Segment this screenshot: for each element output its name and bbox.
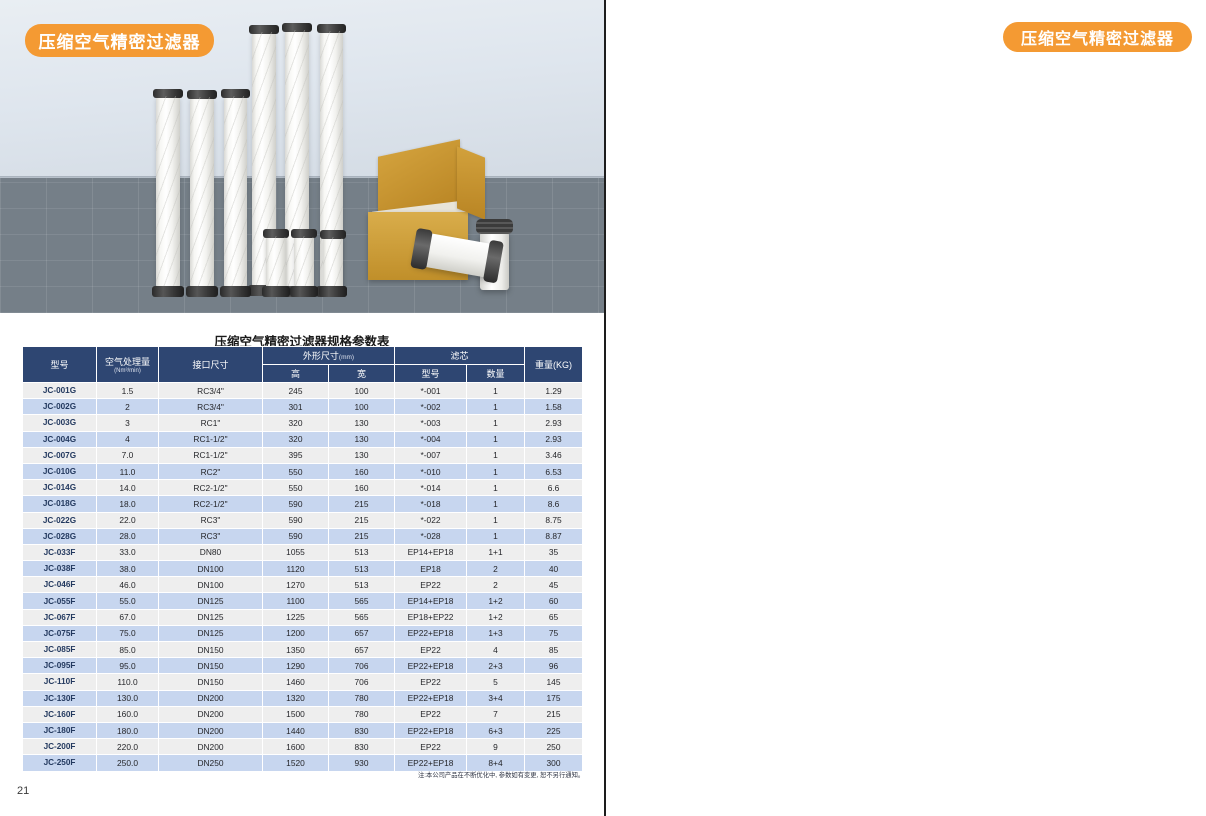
spec-cell-model: JC-010G [23,463,97,479]
spec-cell-port: DN125 [159,609,263,625]
spec-cell-height: 1350 [263,642,329,658]
spec-table-row: JC-160F160.0DN2001500780EP227215 [23,706,583,722]
spec-cell-element-qty: 3+4 [467,690,525,706]
spec-cell-element-model: EP22 [395,706,467,722]
spec-th-port: 接口尺寸 [159,347,263,383]
spec-cell-element-model: EP22 [395,674,467,690]
spec-cell-weight: 6.6 [525,480,583,496]
spec-cell-element-qty: 2 [467,561,525,577]
spec-cell-element-qty: 1+2 [467,609,525,625]
catalog-spread: 压缩空气精密过滤器 压缩空气精密过滤器规格参数表 型号 空气处理量 (Nm³/m… [0,0,1206,816]
spec-th-element-qty: 数量 [467,365,525,383]
spec-cell-port: DN125 [159,593,263,609]
spec-cell-airflow: 3 [97,415,159,431]
spec-cell-airflow: 46.0 [97,577,159,593]
spec-cell-port: RC2-1/2" [159,496,263,512]
spec-cell-height: 1100 [263,593,329,609]
spec-table-row: JC-003G3RC1"320130*-00312.93 [23,415,583,431]
spec-cell-port: DN150 [159,674,263,690]
spec-cell-element-model: *-007 [395,447,467,463]
spec-cell-airflow: 75.0 [97,625,159,641]
spec-cell-port: DN100 [159,577,263,593]
spec-cell-airflow: 130.0 [97,690,159,706]
spec-cell-height: 1055 [263,544,329,560]
spec-cell-weight: 2.93 [525,415,583,431]
spec-cell-width: 215 [329,512,395,528]
spec-cell-port: RC3/4" [159,399,263,415]
spec-cell-element-qty: 2+3 [467,658,525,674]
spec-cell-element-model: EP14+EP18 [395,593,467,609]
title-badge-right: 压缩空气精密过滤器 [1003,22,1192,52]
spec-cell-element-model: EP14+EP18 [395,544,467,560]
page-right: 压缩空气精密过滤器 过滤等级过滤器名称过滤器类型固体颗粒去除(包括水和油雾)最大… [604,0,1206,816]
spec-table-row: JC-038F38.0DN1001120513EP18240 [23,561,583,577]
spec-cell-height: 1270 [263,577,329,593]
spec-cell-port: RC1-1/2" [159,447,263,463]
spec-cell-port: DN200 [159,722,263,738]
spec-cell-width: 513 [329,577,395,593]
spec-cell-model: JC-055F [23,593,97,609]
spec-cell-weight: 8.75 [525,512,583,528]
spec-cell-height: 1120 [263,561,329,577]
spec-table-row: JC-007G7.0RC1-1/2"395130*-00713.46 [23,447,583,463]
spec-table-row: JC-180F180.0DN2001440830EP22+EP186+3225 [23,722,583,738]
spec-cell-element-model: EP18 [395,561,467,577]
spec-cell-element-model: EP22+EP18 [395,755,467,771]
spec-cell-airflow: 85.0 [97,642,159,658]
spec-cell-element-model: EP22+EP18 [395,658,467,674]
spec-th-height: 高 [263,365,329,383]
spec-cell-element-model: *-022 [395,512,467,528]
spec-cell-height: 590 [263,496,329,512]
spec-table-body: JC-001G1.5RC3/4"245100*-00111.29JC-002G2… [23,383,583,772]
spec-table-row: JC-095F95.0DN1501290706EP22+EP182+396 [23,658,583,674]
spec-cell-element-model: *-010 [395,463,467,479]
spec-cell-weight: 225 [525,722,583,738]
spec-cell-weight: 1.29 [525,383,583,399]
spec-cell-airflow: 11.0 [97,463,159,479]
spec-cell-model: JC-022G [23,512,97,528]
spec-cell-width: 830 [329,739,395,755]
spec-cell-height: 1225 [263,609,329,625]
spec-cell-element-model: EP22+EP18 [395,625,467,641]
spec-cell-weight: 35 [525,544,583,560]
spec-table-row: JC-130F130.0DN2001320780EP22+EP183+4175 [23,690,583,706]
filter-cartridge [156,96,180,288]
spec-cell-model: JC-200F [23,739,97,755]
spec-cell-airflow: 7.0 [97,447,159,463]
spec-cell-width: 930 [329,755,395,771]
spec-cell-port: RC3" [159,512,263,528]
spec-cell-width: 565 [329,593,395,609]
spec-cell-element-qty: 1 [467,528,525,544]
spec-cell-weight: 75 [525,625,583,641]
spec-cell-height: 1200 [263,625,329,641]
spec-cell-weight: 1.58 [525,399,583,415]
spec-cell-element-qty: 1 [467,447,525,463]
spec-cell-weight: 85 [525,642,583,658]
spec-cell-element-qty: 4 [467,642,525,658]
spec-cell-element-qty: 1 [467,415,525,431]
spec-cell-weight: 2.93 [525,431,583,447]
spec-cell-port: DN80 [159,544,263,560]
spec-cell-element-qty: 9 [467,739,525,755]
spec-cell-width: 780 [329,706,395,722]
spec-cell-model: JC-028G [23,528,97,544]
spec-th-dimensions-label: 外形尺寸 [303,351,339,361]
spec-cell-airflow: 18.0 [97,496,159,512]
page-gutter-divider [604,0,606,816]
spec-th-dimensions-unit: (mm) [339,354,354,361]
spec-cell-model: JC-033F [23,544,97,560]
spec-cell-height: 301 [263,399,329,415]
spec-table-row: JC-046F46.0DN1001270513EP22245 [23,577,583,593]
spec-cell-element-model: *-001 [395,383,467,399]
spec-cell-height: 590 [263,512,329,528]
spec-cell-model: JC-004G [23,431,97,447]
spec-cell-height: 550 [263,480,329,496]
spec-cell-width: 830 [329,722,395,738]
spec-th-model: 型号 [23,347,97,383]
spec-table-row: JC-110F110.0DN1501460706EP225145 [23,674,583,690]
spec-cell-port: RC2-1/2" [159,480,263,496]
spec-cell-weight: 60 [525,593,583,609]
spec-th-weight: 重量(KG) [525,347,583,383]
spec-cell-width: 100 [329,399,395,415]
spec-cell-airflow: 22.0 [97,512,159,528]
filter-cartridge [224,96,247,288]
spec-cell-width: 657 [329,642,395,658]
spec-cell-port: DN200 [159,739,263,755]
spec-cell-height: 395 [263,447,329,463]
spec-header-row-1: 型号 空气处理量 (Nm³/min) 接口尺寸 外形尺寸(mm) 滤芯 重量(K… [23,347,583,365]
spec-cell-weight: 6.53 [525,463,583,479]
spec-cell-height: 1460 [263,674,329,690]
spec-cell-port: DN250 [159,755,263,771]
spec-cell-weight: 8.6 [525,496,583,512]
cartridge-cap [476,219,513,234]
spec-cell-width: 565 [329,609,395,625]
spec-table-row: JC-014G14.0RC2-1/2"550160*-01416.6 [23,480,583,496]
spec-cell-port: DN150 [159,642,263,658]
spec-cell-element-model: *-014 [395,480,467,496]
spec-cell-airflow: 1.5 [97,383,159,399]
spec-table-row: JC-022G22.0RC3"590215*-02218.75 [23,512,583,528]
spec-cell-airflow: 180.0 [97,722,159,738]
spec-cell-model: JC-038F [23,561,97,577]
spec-cell-element-model: EP22 [395,739,467,755]
spec-cell-weight: 215 [525,706,583,722]
spec-cell-weight: 300 [525,755,583,771]
spec-cell-weight: 8.87 [525,528,583,544]
spec-table-row: JC-200F220.0DN2001600830EP229250 [23,739,583,755]
spec-cell-airflow: 28.0 [97,528,159,544]
spec-cell-element-qty: 1 [467,383,525,399]
filter-cartridge-short [266,236,286,288]
title-badge-left: 压缩空气精密过滤器 [25,24,214,57]
spec-cell-width: 100 [329,383,395,399]
footnote-left: 注:本公司产品在不断优化中, 参数如有变更, 恕不另行通知。 [418,770,584,779]
spec-cell-element-qty: 1+1 [467,544,525,560]
spec-cell-element-model: EP22+EP18 [395,690,467,706]
spec-table-row: JC-055F55.0DN1251100565EP14+EP181+260 [23,593,583,609]
spec-cell-element-model: EP22+EP18 [395,722,467,738]
spec-cell-height: 1600 [263,739,329,755]
spec-cell-element-qty: 1 [467,480,525,496]
page-left: 压缩空气精密过滤器 压缩空气精密过滤器规格参数表 型号 空气处理量 (Nm³/m… [0,0,604,816]
spec-cell-element-model: EP22 [395,577,467,593]
spec-cell-model: JC-075F [23,625,97,641]
spec-cell-model: JC-018G [23,496,97,512]
spec-cell-element-qty: 6+3 [467,722,525,738]
spec-cell-airflow: 2 [97,399,159,415]
spec-cell-width: 160 [329,480,395,496]
spec-cell-element-qty: 1 [467,399,525,415]
spec-cell-model: JC-002G [23,399,97,415]
page-number-left: 21 [17,785,29,797]
spec-cell-element-qty: 1+3 [467,625,525,641]
spec-cell-airflow: 67.0 [97,609,159,625]
spec-cell-airflow: 220.0 [97,739,159,755]
spec-cell-port: RC2" [159,463,263,479]
spec-cell-airflow: 250.0 [97,755,159,771]
spec-th-airflow-label: 空气处理量 [105,357,150,367]
spec-cell-height: 1520 [263,755,329,771]
spec-cell-airflow: 95.0 [97,658,159,674]
spec-table-row: JC-075F75.0DN1251200657EP22+EP181+375 [23,625,583,641]
spec-cell-element-model: EP18+EP22 [395,609,467,625]
spec-table: 型号 空气处理量 (Nm³/min) 接口尺寸 外形尺寸(mm) 滤芯 重量(K… [22,346,583,772]
spec-cell-width: 130 [329,447,395,463]
filter-cartridge-short [294,236,314,288]
spec-cell-model: JC-014G [23,480,97,496]
spec-cell-port: RC3/4" [159,383,263,399]
spec-cell-port: DN200 [159,706,263,722]
carton-flap [457,146,485,219]
spec-cell-element-model: *-003 [395,415,467,431]
spec-cell-height: 1440 [263,722,329,738]
spec-cell-model: JC-110F [23,674,97,690]
spec-cell-weight: 96 [525,658,583,674]
spec-cell-airflow: 55.0 [97,593,159,609]
spec-cell-element-qty: 1 [467,512,525,528]
spec-cell-element-qty: 8+4 [467,755,525,771]
spec-cell-height: 1500 [263,706,329,722]
spec-cell-width: 706 [329,674,395,690]
spec-cell-airflow: 14.0 [97,480,159,496]
product-photo: 压缩空气精密过滤器 [0,0,604,313]
spec-cell-width: 513 [329,561,395,577]
spec-cell-element-qty: 1 [467,496,525,512]
spec-table-row: JC-018G18.0RC2-1/2"590215*-01818.6 [23,496,583,512]
spec-cell-width: 513 [329,544,395,560]
spec-th-width: 宽 [329,365,395,383]
spec-cell-weight: 250 [525,739,583,755]
spec-cell-model: JC-001G [23,383,97,399]
spec-cell-element-model: *-002 [395,399,467,415]
spec-cell-model: JC-007G [23,447,97,463]
spec-table-row: JC-002G2RC3/4"301100*-00211.58 [23,399,583,415]
spec-cell-port: RC1" [159,415,263,431]
spec-table-row: JC-010G11.0RC2"550160*-01016.53 [23,463,583,479]
spec-cell-height: 245 [263,383,329,399]
spec-cell-weight: 3.46 [525,447,583,463]
spec-cell-port: RC3" [159,528,263,544]
spec-cell-width: 215 [329,496,395,512]
spec-cell-airflow: 110.0 [97,674,159,690]
spec-cell-element-model: *-004 [395,431,467,447]
spec-cell-element-qty: 1 [467,431,525,447]
spec-cell-weight: 175 [525,690,583,706]
spec-th-element: 滤芯 [395,347,525,365]
spec-cell-model: JC-130F [23,690,97,706]
spec-cell-model: JC-067F [23,609,97,625]
spec-cell-width: 160 [329,463,395,479]
filter-cartridge [190,97,214,288]
spec-table-row: JC-067F67.0DN1251225565EP18+EP221+265 [23,609,583,625]
spec-cell-element-qty: 5 [467,674,525,690]
spec-cell-model: JC-160F [23,706,97,722]
spec-table-row: JC-001G1.5RC3/4"245100*-00111.29 [23,383,583,399]
spec-cell-element-model: *-018 [395,496,467,512]
spec-cell-height: 550 [263,463,329,479]
spec-cell-element-qty: 7 [467,706,525,722]
spec-cell-width: 657 [329,625,395,641]
spec-cell-airflow: 33.0 [97,544,159,560]
spec-table-row: JC-028G28.0RC3"590215*-02818.87 [23,528,583,544]
spec-cell-model: JC-180F [23,722,97,738]
spec-cell-width: 706 [329,658,395,674]
spec-cell-port: DN125 [159,625,263,641]
spec-table-row: JC-085F85.0DN1501350657EP22485 [23,642,583,658]
spec-cell-width: 130 [329,415,395,431]
spec-cell-airflow: 38.0 [97,561,159,577]
spec-cell-width: 215 [329,528,395,544]
spec-cell-weight: 45 [525,577,583,593]
spec-cell-height: 1320 [263,690,329,706]
spec-cell-weight: 65 [525,609,583,625]
spec-cell-element-model: *-028 [395,528,467,544]
spec-cell-model: JC-046F [23,577,97,593]
spec-cell-port: DN100 [159,561,263,577]
spec-cell-port: DN200 [159,690,263,706]
spec-th-dimensions: 外形尺寸(mm) [263,347,395,365]
spec-cell-height: 590 [263,528,329,544]
spec-table-row: JC-250F250.0DN2501520930EP22+EP188+4300 [23,755,583,771]
spec-cell-height: 320 [263,415,329,431]
spec-cell-model: JC-003G [23,415,97,431]
spec-cell-model: JC-250F [23,755,97,771]
spec-cell-element-qty: 1 [467,463,525,479]
spec-cell-airflow: 4 [97,431,159,447]
spec-cell-weight: 145 [525,674,583,690]
filter-cartridge-short [323,237,343,288]
spec-table-row: JC-004G4RC1-1/2"320130*-00412.93 [23,431,583,447]
spec-cell-height: 320 [263,431,329,447]
spec-cell-width: 780 [329,690,395,706]
spec-th-element-model: 型号 [395,365,467,383]
spec-cell-height: 1290 [263,658,329,674]
spec-cell-width: 130 [329,431,395,447]
spec-th-airflow: 空气处理量 (Nm³/min) [97,347,159,383]
spec-cell-element-model: EP22 [395,642,467,658]
spec-cell-airflow: 160.0 [97,706,159,722]
spec-cell-model: JC-095F [23,658,97,674]
spec-cell-element-qty: 2 [467,577,525,593]
spec-cell-port: RC1-1/2" [159,431,263,447]
spec-cell-port: DN150 [159,658,263,674]
spec-cell-weight: 40 [525,561,583,577]
spec-th-airflow-unit: (Nm³/min) [98,368,157,375]
spec-cell-element-qty: 1+2 [467,593,525,609]
spec-cell-model: JC-085F [23,642,97,658]
spec-table-row: JC-033F33.0DN801055513EP14+EP181+135 [23,544,583,560]
